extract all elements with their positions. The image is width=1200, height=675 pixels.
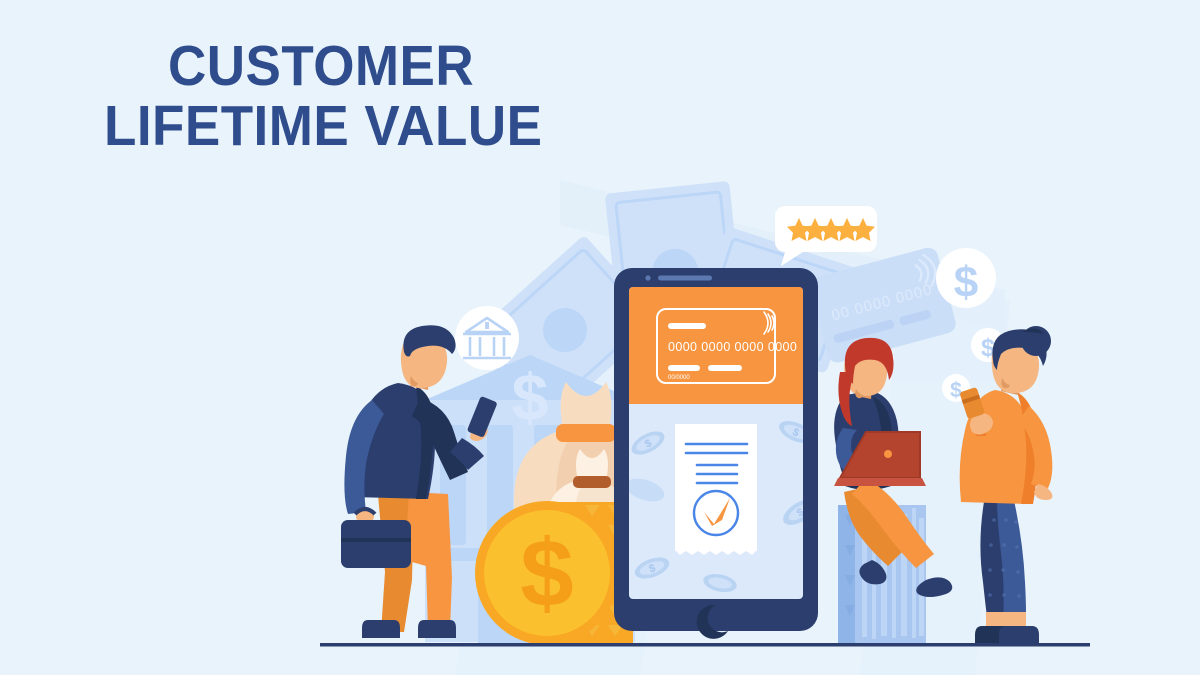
- phone-speaker: [658, 276, 712, 281]
- bank-icon-badge: [455, 306, 519, 370]
- customer-lifetime-value-illustration: $ 00 0000 0000 $: [0, 0, 1200, 675]
- svg-text:$: $: [950, 379, 962, 402]
- receipt-document: [675, 424, 757, 555]
- big-gold-coin: $: [475, 501, 619, 645]
- bank-dollar-sign: $: [512, 360, 549, 434]
- card-bar-a: [668, 365, 700, 371]
- phone-card-panel: 0000 0000 0000 0000 00/0000: [629, 287, 803, 404]
- phone-camera: [645, 275, 650, 280]
- card-number: 0000 0000 0000 0000: [668, 340, 797, 354]
- smartphone-mockup: $ $ $: [614, 268, 821, 639]
- svg-text:$: $: [954, 258, 978, 307]
- illustration-canvas: $ 00 0000 0000 $: [0, 0, 1200, 675]
- ground-line: [320, 643, 1090, 647]
- card-name-bar: [668, 323, 706, 329]
- card-bar-b: [708, 365, 742, 371]
- dollar-badge-large: $: [936, 248, 996, 308]
- coin-dollar-symbol: $: [520, 520, 573, 627]
- card-expiry: 00/0000: [668, 375, 690, 381]
